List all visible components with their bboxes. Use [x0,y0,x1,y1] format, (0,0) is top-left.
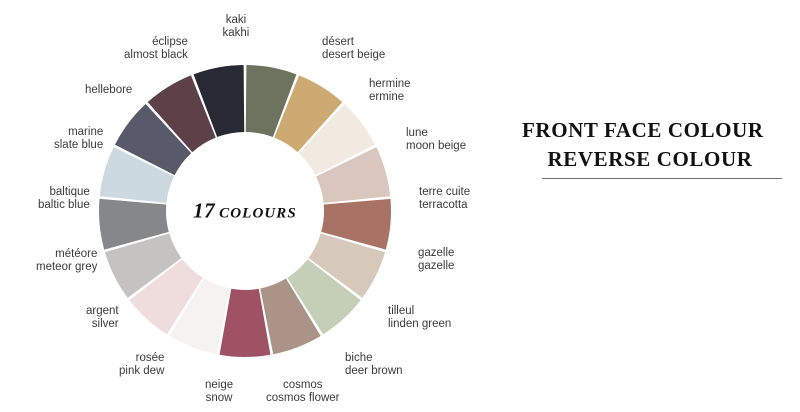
swatch-name-en: gazelle [418,260,454,273]
swatch-name-fr: éclipse [124,36,188,49]
swatch-name-fr: cosmos [266,379,340,392]
wheel-segment-group [99,65,391,357]
swatch-name-fr: terre cuite [419,186,470,199]
swatch-name-en: desert beige [322,49,385,62]
swatch-name-en: baltic blue [38,199,90,212]
swatch-name-en: ermine [369,91,411,104]
swatch-name-fr: argent [86,305,119,318]
swatch-name-fr: lune [406,127,466,140]
swatch-name-fr: météore [36,248,97,261]
swatch-name-fr: désert [322,36,385,49]
swatch-name-en: almost black [124,49,188,62]
colour-wheel-panel: 17COLOURS kakikakhidésertdesert beigeher… [0,0,500,412]
swatch-label-ros-e: roséepink dew [119,352,164,378]
swatch-label-marine: marineslate blue [54,126,103,152]
swatch-name-en: silver [86,318,119,331]
swatch-label-argent: argentsilver [86,305,119,331]
swatch-label-gazelle: gazellegazelle [418,247,454,273]
swatch-label-terre-cuite: terre cuiteterracotta [419,186,470,212]
swatch-name-fr: kaki [223,14,250,27]
swatch-name-en: pink dew [119,365,164,378]
swatch-name-fr: hermine [369,78,411,91]
title-underline-rule [542,178,782,179]
swatch-name-en: cosmos flower [266,392,340,405]
swatch-label-tilleul: tilleullinden green [388,305,451,331]
swatch-name-en: deer brown [345,365,403,378]
swatch-name-en: snow [205,392,233,405]
swatch-name-fr: rosée [119,352,164,365]
swatch-name-en: kakhi [223,27,250,40]
front-face-colour-title: FRONT FACE COLOUR [520,118,788,143]
swatch-name-en: terracotta [419,199,470,212]
swatch-label-hellebore: hellebore [85,84,132,97]
swatch-name-fr: biche [345,352,403,365]
swatch-name-fr: neige [205,379,233,392]
title-block: FRONT FACE COLOUR REVERSE COLOUR [520,118,788,179]
swatch-name-fr: marine [54,126,103,139]
swatch-label-d-sert: désertdesert beige [322,36,385,62]
swatch-name-en: moon beige [406,140,466,153]
swatch-name-fr: tilleul [388,305,451,318]
swatch-label-cosmos: cosmoscosmos flower [266,379,340,405]
swatch-label-baltique: baltiquebaltic blue [38,186,90,212]
infographic-canvas: 17COLOURS kakikakhidésertdesert beigeher… [0,0,800,412]
swatch-name-en: linden green [388,318,451,331]
swatch-label-kaki: kakikakhi [223,14,250,40]
swatch-name-fr: hellebore [85,84,132,97]
swatch-name-fr: baltique [38,186,90,199]
swatch-name-en: meteor grey [36,261,97,274]
swatch-label-hermine: hermineermine [369,78,411,104]
swatch-label-neige: neigesnow [205,379,233,405]
swatch-label-lune: lunemoon beige [406,127,466,153]
swatch-label-clipse: éclipsealmost black [124,36,188,62]
swatch-name-fr: gazelle [418,247,454,260]
swatch-label-biche: bichedeer brown [345,352,403,378]
reverse-colour-title: REVERSE COLOUR [520,147,788,172]
swatch-label-m-t-ore: météoremeteor grey [36,248,97,274]
swatch-name-en: slate blue [54,139,103,152]
